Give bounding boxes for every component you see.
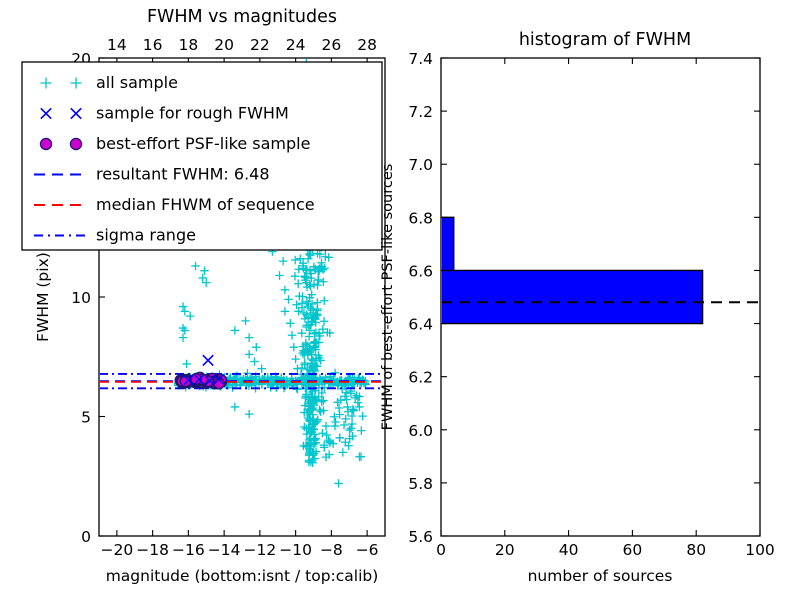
- x-ticklabel: 80: [686, 541, 706, 559]
- y-ticklabel: 5: [81, 409, 91, 427]
- legend-item-label: median FHWM of sequence: [96, 195, 315, 214]
- y-ticklabel: 6.2: [408, 369, 433, 387]
- legend-item-label: best-effort PSF-like sample: [96, 134, 310, 153]
- x-ticklabel-bottom: −6: [356, 541, 379, 559]
- left-panel-ylabel: FWHM (pix): [34, 252, 52, 342]
- y-ticklabel: 6.4: [408, 316, 433, 334]
- x-ticklabel: 100: [745, 541, 775, 559]
- x-ticklabel-bottom: −8: [320, 541, 343, 559]
- x-ticklabel-top: 26: [322, 36, 342, 54]
- x-ticklabel-bottom: −20: [101, 541, 134, 559]
- x-ticklabel: 0: [436, 541, 446, 559]
- x-ticklabel-bottom: −10: [279, 541, 312, 559]
- x-ticklabel: 60: [623, 541, 643, 559]
- circle-marker: [70, 138, 81, 149]
- histogram-bar: [441, 270, 703, 323]
- x-ticklabel-bottom: −16: [172, 541, 205, 559]
- y-ticklabel: 5.6: [408, 528, 433, 546]
- y-ticklabel: 10: [71, 289, 91, 307]
- x-ticklabel: 20: [495, 541, 515, 559]
- left-panel-title: FWHM vs magnitudes: [147, 7, 337, 27]
- right-panel-title: histogram of FWHM: [519, 30, 691, 50]
- y-ticklabel: 7.2: [408, 103, 433, 121]
- y-ticklabel: 6.6: [408, 262, 433, 280]
- matplotlib-figure: FWHM vs magnitudes −20−18−16−14−12−10−8−…: [0, 0, 800, 600]
- x-ticklabel-top: 18: [179, 36, 199, 54]
- x-ticklabel-top: 24: [286, 36, 306, 54]
- x-ticklabel-top: 20: [214, 36, 234, 54]
- legend-box: [22, 62, 382, 250]
- x-ticklabel-top: 28: [357, 36, 377, 54]
- x-ticklabel-top: 16: [143, 36, 163, 54]
- y-ticklabel: 6.0: [408, 422, 433, 440]
- y-ticklabel: 5.8: [408, 475, 433, 493]
- figure-canvas: FWHM vs magnitudes −20−18−16−14−12−10−8−…: [0, 0, 800, 600]
- right-panel-xlabel: number of sources: [528, 567, 673, 585]
- histogram-bar: [441, 217, 454, 270]
- x-ticklabel-bottom: −12: [244, 541, 277, 559]
- y-ticklabel: 7.4: [408, 50, 433, 68]
- x-ticklabel: 40: [559, 541, 579, 559]
- left-panel-xlabel: magnitude (bottom:isnt / top:calib): [106, 567, 379, 585]
- legend-item-label: sample for rough FWHM: [96, 104, 289, 123]
- x-ticklabel-bottom: −18: [136, 541, 169, 559]
- circle-marker: [40, 138, 51, 149]
- legend-item-label: sigma range: [96, 226, 196, 245]
- x-ticklabel-bottom: −14: [208, 541, 241, 559]
- y-ticklabel: 6.8: [408, 209, 433, 227]
- legend: all samplesample for rough FWHMbest-effo…: [22, 62, 382, 250]
- y-ticklabel: 0: [81, 528, 91, 546]
- legend-item-label: all sample: [96, 73, 178, 92]
- x-ticklabel-top: 14: [107, 36, 127, 54]
- x-ticklabel-top: 22: [250, 36, 270, 54]
- y-ticklabel: 7.0: [408, 156, 433, 174]
- legend-item-label: resultant FWHM: 6.48: [96, 165, 270, 184]
- right-panel-ylabel: FWHM of best-effort PSF-like sources: [380, 164, 396, 431]
